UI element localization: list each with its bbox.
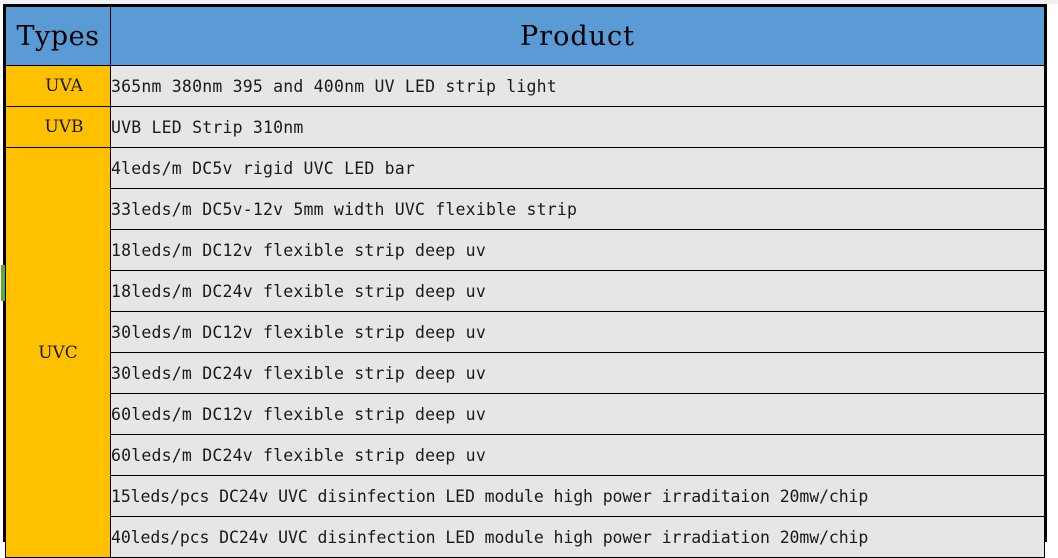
type-cell-uvb: UVB	[6, 107, 111, 148]
table-row: 15leds/pcs DC24v UVC disinfection LED mo…	[6, 476, 1045, 517]
product-cell: 4leds/m DC5v rigid UVC LED bar	[111, 148, 1045, 189]
type-cell-uva: UVA	[6, 66, 111, 107]
type-label-uva: UVA	[33, 76, 83, 96]
type-label-uvb: UVB	[32, 117, 83, 137]
table-header-row: Types Product	[6, 7, 1045, 66]
table-row: 30leds/m DC24v flexible strip deep uv	[6, 353, 1045, 394]
product-cell: 33leds/m DC5v-12v 5mm width UVC flexible…	[111, 189, 1045, 230]
product-cell: UVB LED Strip 310nm	[111, 107, 1045, 148]
uv-product-table-container: Types Product UVA 365nm 380nm 395 and 40…	[3, 4, 1047, 542]
screenshot-root: Types Product UVA 365nm 380nm 395 and 40…	[0, 0, 1058, 546]
product-cell: 60leds/m DC24v flexible strip deep uv	[111, 435, 1045, 476]
table-row: 60leds/m DC12v flexible strip deep uv	[6, 394, 1045, 435]
product-cell: 365nm 380nm 395 and 400nm UV LED strip l…	[111, 66, 1045, 107]
product-cell: 18leds/m DC12v flexible strip deep uv	[111, 230, 1045, 271]
table-row: UVB UVB LED Strip 310nm	[6, 107, 1045, 148]
column-header-product: Product	[111, 7, 1045, 66]
table-row: 60leds/m DC24v flexible strip deep uv	[6, 435, 1045, 476]
left-edge-selection-marker	[1, 265, 5, 301]
table-row: 40leds/pcs DC24v UVC disinfection LED mo…	[6, 517, 1045, 558]
product-cell: 60leds/m DC12v flexible strip deep uv	[111, 394, 1045, 435]
table-row: 18leds/m DC24v flexible strip deep uv	[6, 271, 1045, 312]
column-header-types: Types	[6, 7, 111, 66]
type-cell-uvc: UVC	[6, 148, 111, 558]
product-cell: 40leds/pcs DC24v UVC disinfection LED mo…	[111, 517, 1045, 558]
table-row: UVA 365nm 380nm 395 and 400nm UV LED str…	[6, 66, 1045, 107]
product-cell: 30leds/m DC12v flexible strip deep uv	[111, 312, 1045, 353]
table-row: 18leds/m DC12v flexible strip deep uv	[6, 230, 1045, 271]
product-cell: 30leds/m DC24v flexible strip deep uv	[111, 353, 1045, 394]
type-label-uvc: UVC	[38, 343, 78, 363]
table-row: 30leds/m DC12v flexible strip deep uv	[6, 312, 1045, 353]
table-row: 33leds/m DC5v-12v 5mm width UVC flexible…	[6, 189, 1045, 230]
uv-product-table: Types Product UVA 365nm 380nm 395 and 40…	[5, 6, 1045, 558]
product-cell: 18leds/m DC24v flexible strip deep uv	[111, 271, 1045, 312]
table-row: UVC 4leds/m DC5v rigid UVC LED bar	[6, 148, 1045, 189]
product-cell: 15leds/pcs DC24v UVC disinfection LED mo…	[111, 476, 1045, 517]
